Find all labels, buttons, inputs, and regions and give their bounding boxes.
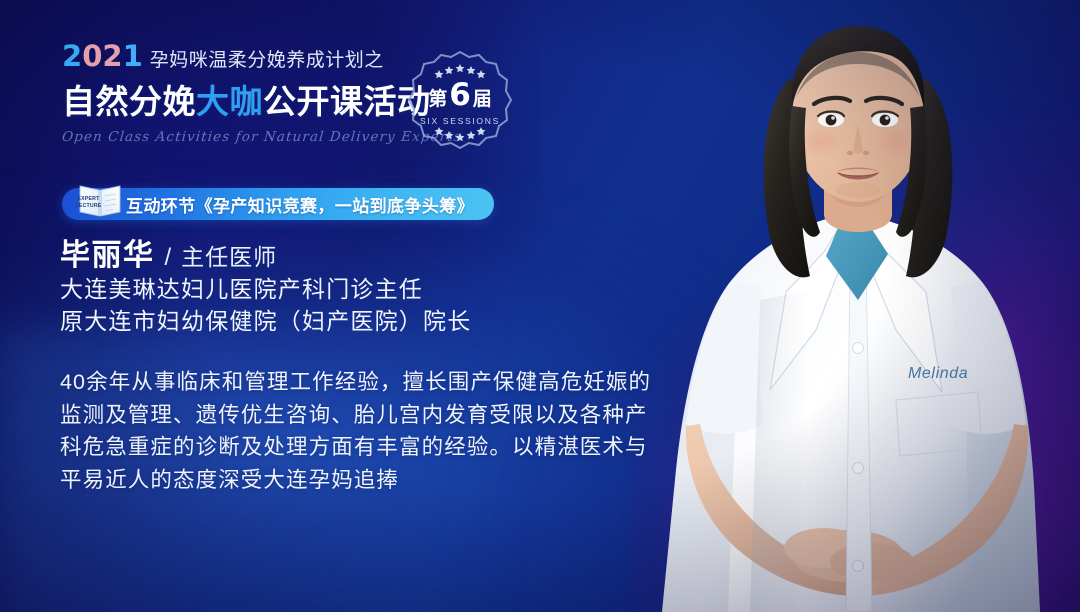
year-digit-4: 1 [123,39,143,73]
badge-content: 第 6 届 SIX SESSIONS [406,48,514,156]
badge-number: 6 [449,80,471,111]
badge-subtitle: SIX SESSIONS [420,116,500,126]
title-main-highlight: 大咖 [196,83,263,120]
speaker-info: 毕丽华 / 主任医师 大连美琳达妇儿医院产科门诊主任 原大连市妇幼保健院（妇产医… [60,238,660,337]
title-first-row: 2021 孕妈咪温柔分娩养成计划之 [62,42,392,76]
title-block: 2021 孕妈咪温柔分娩养成计划之 自然分娩大咖公开课活动 Open Class… [62,42,392,145]
speaker-separator: / [165,244,172,272]
badge-main-text: 第 6 届 [428,80,492,111]
badge-suffix: 届 [473,90,492,109]
book-icon: EXPERT LECTURE [76,178,124,220]
year-digit-3: 2 [102,39,122,73]
badge-prefix: 第 [428,90,447,109]
speaker-name-row: 毕丽华 / 主任医师 [60,238,660,273]
poster-canvas: Melinda [0,0,1080,612]
year-label: 2021 [62,42,143,71]
session-badge: 第 6 届 SIX SESSIONS [406,48,514,156]
title-subtitle-cn: 孕妈咪温柔分娩养成计划之 [150,51,384,70]
speaker-role: 主任医师 [181,238,277,272]
title-script-line: Open Class Activities for Natural Delive… [61,129,393,145]
speaker-affiliation-1: 大连美琳达妇儿医院产科门诊主任 [60,274,660,305]
year-digit-2: 0 [82,39,102,73]
book-icon-label-lecture: LECTURE [76,203,102,209]
interactive-session-banner: 互动环节《孕产知识竞赛，一站到底争头筹》 EXPERT LECTURE [62,188,494,220]
title-main-part1: 自然分娩 [62,83,196,120]
banner-text: 互动环节《孕产知识竞赛，一站到底争头筹》 [126,192,474,217]
speaker-bio: 40余年从事临床和管理工作经验，擅长围产保健高危妊娠的监测及管理、遗传优生咨询、… [60,366,658,497]
year-digit-1: 2 [62,39,82,73]
title-main: 自然分娩大咖公开课活动 [62,83,392,121]
banner-pill: 互动环节《孕产知识竞赛，一站到底争头筹》 [62,188,494,220]
speaker-affiliation-2: 原大连市妇幼保健院（妇产医院）院长 [60,306,660,337]
book-icon-label-expert: EXPERT [78,196,101,202]
speaker-name: 毕丽华 [60,238,155,273]
